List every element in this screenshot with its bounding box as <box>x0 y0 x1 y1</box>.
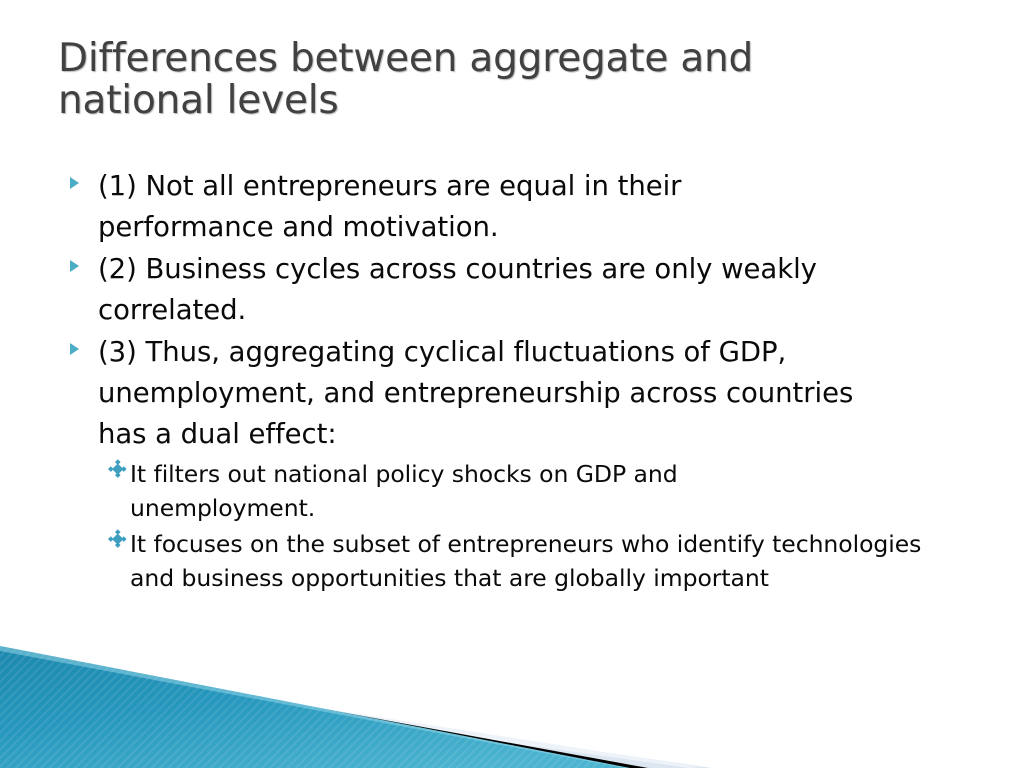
sub-list-item: It focuses on the subset of entrepreneur… <box>58 527 958 595</box>
decoration-light-band <box>0 664 712 768</box>
diamond-icon <box>110 527 130 546</box>
content-placeholder: (1) Not all entrepreneurs are equal in t… <box>58 166 958 596</box>
sub-list-item: It filters out national policy shocks on… <box>58 457 958 525</box>
decoration-teal-highlight <box>0 646 630 768</box>
decoration-light-band-soft <box>0 658 700 768</box>
list-item-label: (3) Thus, aggregating cyclical fluctuati… <box>98 332 898 455</box>
list-item-label: (1) Not all entrepreneurs are equal in t… <box>98 166 858 248</box>
presentation-slide: Differences between aggregate and nation… <box>0 0 1024 768</box>
decoration-teal-triangle <box>0 646 630 768</box>
list-item: (2) Business cycles across countries are… <box>58 249 958 331</box>
page-title: Differences between aggregate and nation… <box>58 38 958 122</box>
list-item: (3) Thus, aggregating cyclical fluctuati… <box>58 332 958 455</box>
sub-list-item-label: It filters out national policy shocks on… <box>130 457 850 525</box>
diamond-icon <box>110 457 130 476</box>
list-item-label: (2) Business cycles across countries are… <box>98 249 888 331</box>
list-item: (1) Not all entrepreneurs are equal in t… <box>58 166 958 248</box>
triangle-right-icon <box>70 249 98 272</box>
title-placeholder: Differences between aggregate and nation… <box>58 38 958 122</box>
slide-decoration-graphic <box>0 638 1024 768</box>
triangle-right-icon <box>70 332 98 355</box>
decoration-black-stripe <box>0 650 648 768</box>
sub-list-item-label: It focuses on the subset of entrepreneur… <box>130 527 940 595</box>
triangle-right-icon <box>70 166 98 189</box>
